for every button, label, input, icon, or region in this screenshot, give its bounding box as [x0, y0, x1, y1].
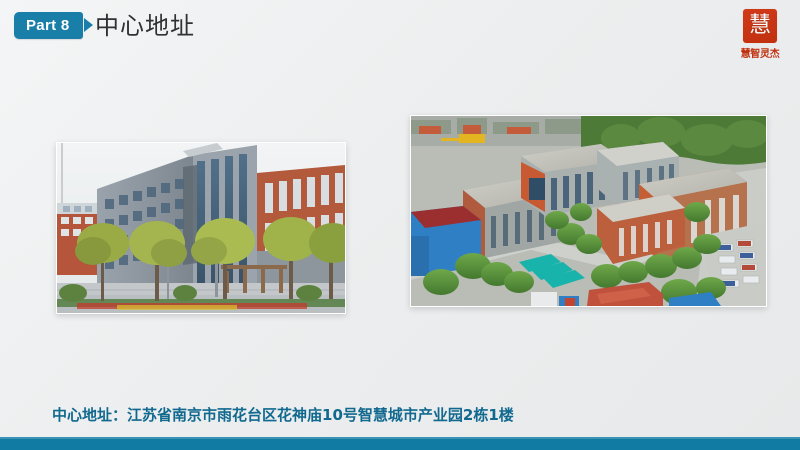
center-address-line: 中心地址：江苏省南京市雨花台区花神庙10号智慧城市产业园2栋1楼: [52, 400, 514, 430]
company-logo: 慧 慧智灵杰: [734, 8, 786, 60]
logo-glyph: 慧: [743, 9, 777, 43]
logo-mark-icon: 慧: [742, 8, 778, 44]
part-badge: Part 8: [14, 12, 83, 39]
aerial-campus-photo: [410, 115, 767, 307]
logo-wordmark: 慧智灵杰: [734, 45, 786, 60]
office-building-photo: [56, 142, 346, 314]
aerial-campus-illustration: [411, 116, 766, 306]
page-title: 中心地址: [95, 11, 195, 41]
slide-header: Part 8 中心地址: [0, 0, 800, 62]
office-building-illustration: [57, 143, 345, 313]
part-badge-arrow-icon: [84, 18, 93, 32]
footer-accent-highlight: [0, 437, 800, 439]
slide-canvas: Part 8 中心地址 慧 慧智灵杰: [0, 0, 800, 450]
footer-accent-bar: [0, 437, 800, 450]
contact-info: 中心地址：江苏省南京市雨花台区花神庙10号智慧城市产业园2栋1楼 联系电话：02…: [52, 340, 514, 450]
